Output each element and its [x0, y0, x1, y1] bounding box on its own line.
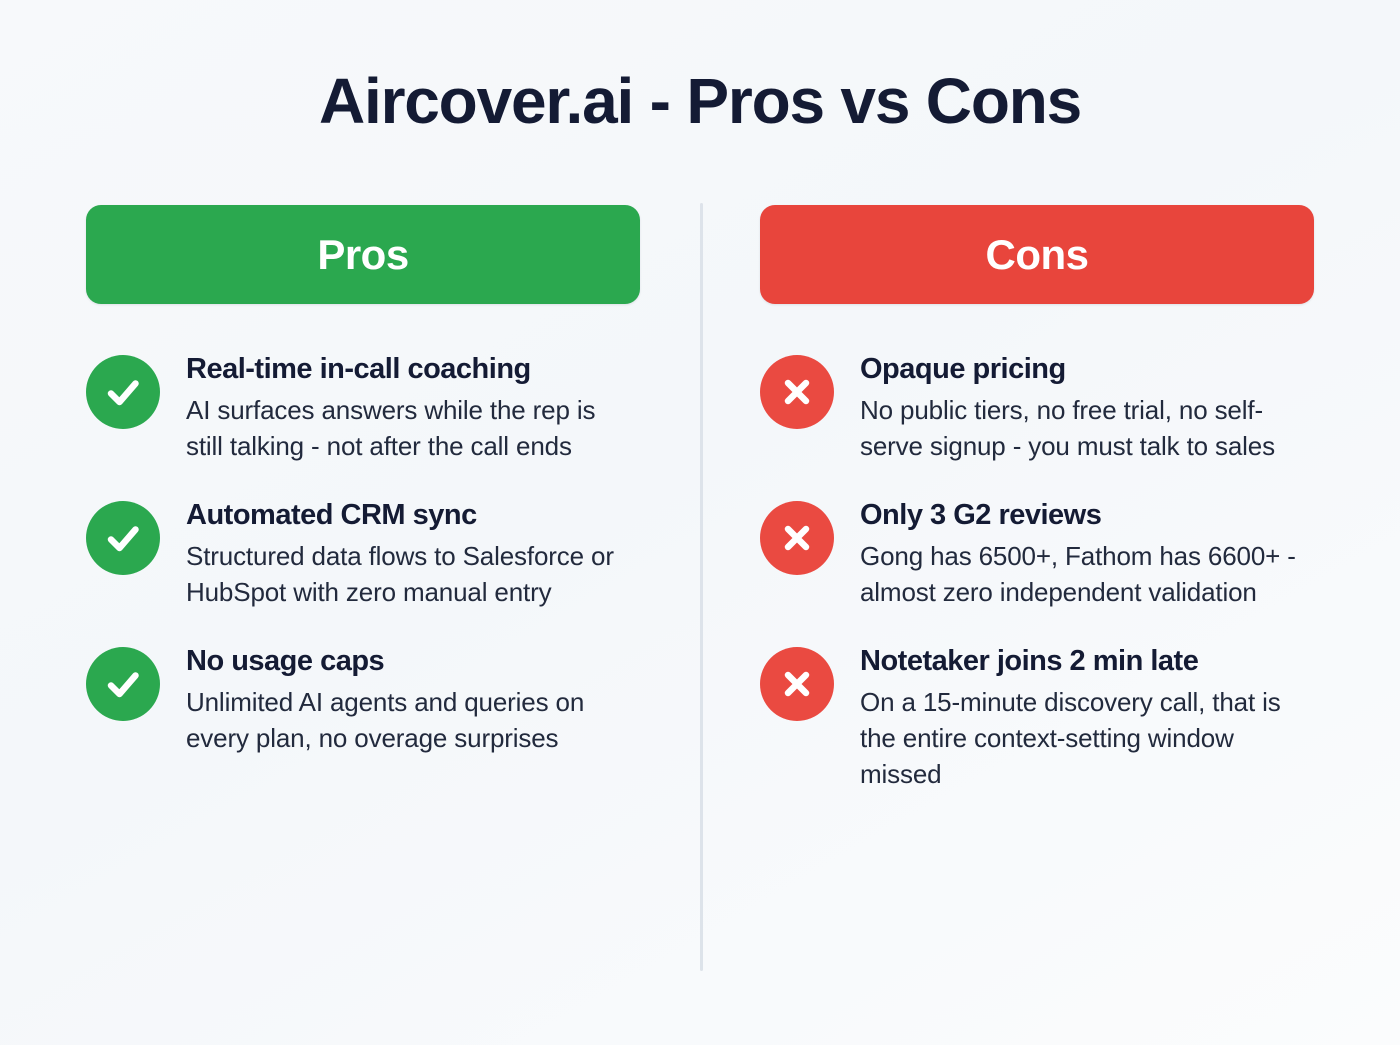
- list-item-title: No usage caps: [186, 644, 640, 678]
- check-icon: [86, 647, 160, 721]
- list-item-body: No usage caps Unlimited AI agents and qu…: [186, 643, 640, 757]
- cons-header-label: Cons: [986, 234, 1089, 276]
- cross-icon: [760, 647, 834, 721]
- pros-column: Pros Real-time in-call coaching AI surfa…: [86, 205, 640, 757]
- list-item: No usage caps Unlimited AI agents and qu…: [86, 643, 640, 757]
- list-item-description: No public tiers, no free trial, no self-…: [860, 393, 1300, 465]
- list-item-body: Automated CRM sync Structured data flows…: [186, 497, 640, 611]
- list-item-title: Only 3 G2 reviews: [860, 498, 1314, 532]
- cons-column: Cons Opaque pricing No public tiers, no …: [760, 205, 1314, 793]
- list-item: Real-time in-call coaching AI surfaces a…: [86, 351, 640, 465]
- cross-icon: [760, 355, 834, 429]
- list-item-body: Notetaker joins 2 min late On a 15-minut…: [860, 643, 1314, 793]
- cons-header: Cons: [760, 205, 1314, 304]
- pros-header-label: Pros: [317, 234, 408, 276]
- list-item: Automated CRM sync Structured data flows…: [86, 497, 640, 611]
- comparison-infographic: Aircover.ai - Pros vs Cons Pros Real-tim…: [0, 0, 1400, 1045]
- list-item-description: AI surfaces answers while the rep is sti…: [186, 393, 638, 465]
- list-item-title: Opaque pricing: [860, 352, 1314, 386]
- list-item-body: Only 3 G2 reviews Gong has 6500+, Fathom…: [860, 497, 1314, 611]
- check-icon: [86, 501, 160, 575]
- list-item-body: Real-time in-call coaching AI surfaces a…: [186, 351, 640, 465]
- list-item-title: Automated CRM sync: [186, 498, 640, 532]
- list-item-description: Structured data flows to Salesforce or H…: [186, 539, 638, 611]
- page-title: Aircover.ai - Pros vs Cons: [0, 68, 1400, 135]
- columns-container: Pros Real-time in-call coaching AI surfa…: [86, 205, 1314, 793]
- list-item-description: Gong has 6500+, Fathom has 6600+ - almos…: [860, 539, 1300, 611]
- list-item-title: Notetaker joins 2 min late: [860, 644, 1314, 678]
- list-item: Notetaker joins 2 min late On a 15-minut…: [760, 643, 1314, 793]
- pros-item-list: Real-time in-call coaching AI surfaces a…: [86, 351, 640, 757]
- cons-item-list: Opaque pricing No public tiers, no free …: [760, 351, 1314, 793]
- pros-header: Pros: [86, 205, 640, 304]
- cross-icon: [760, 501, 834, 575]
- list-item-description: Unlimited AI agents and queries on every…: [186, 685, 638, 757]
- check-icon: [86, 355, 160, 429]
- list-item: Only 3 G2 reviews Gong has 6500+, Fathom…: [760, 497, 1314, 611]
- list-item-description: On a 15-minute discovery call, that is t…: [860, 685, 1300, 793]
- list-item: Opaque pricing No public tiers, no free …: [760, 351, 1314, 465]
- list-item-body: Opaque pricing No public tiers, no free …: [860, 351, 1314, 465]
- list-item-title: Real-time in-call coaching: [186, 352, 640, 386]
